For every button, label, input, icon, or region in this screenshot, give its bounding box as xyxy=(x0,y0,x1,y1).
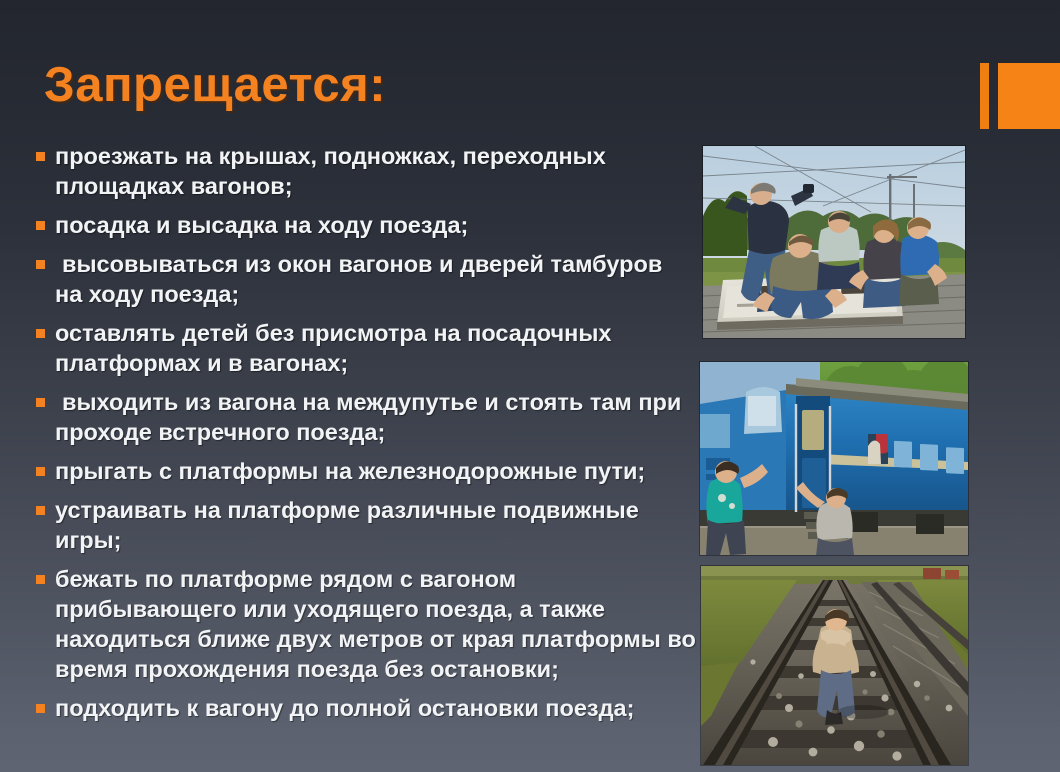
list-item-label: высовываться из окон вагонов и дверей та… xyxy=(55,249,696,309)
accent-gap xyxy=(989,63,998,129)
list-item: выходить из вагона на междупутье и стоят… xyxy=(36,387,696,447)
bullet-square-icon xyxy=(36,704,45,713)
list-item: устраивать на платформе различные подвиж… xyxy=(36,495,696,555)
list-item-label: прыгать с платформы на железнодорожные п… xyxy=(55,456,696,486)
list-item-label: выходить из вагона на междупутье и стоят… xyxy=(55,387,696,447)
orange-corner-accent xyxy=(980,63,1060,129)
list-item: прыгать с платформы на железнодорожные п… xyxy=(36,456,696,486)
photo-children-climbing-railcar xyxy=(700,362,968,555)
list-item: проезжать на крышах, подножках, переходн… xyxy=(36,141,696,201)
list-item-label: устраивать на платформе различные подвиж… xyxy=(55,495,696,555)
prohibition-list: проезжать на крышах, подножках, переходн… xyxy=(36,141,696,732)
list-item-label: подходить к вагону до полной остановки п… xyxy=(55,693,696,723)
bullet-square-icon xyxy=(36,260,45,269)
list-item: высовываться из окон вагонов и дверей та… xyxy=(36,249,696,309)
list-item-label: посадка и высадка на ходу поезда; xyxy=(55,210,696,240)
list-item: подходить к вагону до полной остановки п… xyxy=(36,693,696,723)
accent-thin-bar xyxy=(980,63,989,129)
list-item-label: бежать по платформе рядом с вагоном приб… xyxy=(55,564,696,684)
bullet-square-icon xyxy=(36,398,45,407)
photo-people-on-train-roof xyxy=(703,146,965,338)
list-item: бежать по платформе рядом с вагоном приб… xyxy=(36,564,696,684)
list-item: посадка и высадка на ходу поезда; xyxy=(36,210,696,240)
accent-block xyxy=(998,63,1060,129)
list-item-label: оставлять детей без присмотра на посадоч… xyxy=(55,318,696,378)
bullet-square-icon xyxy=(36,329,45,338)
bullet-square-icon xyxy=(36,152,45,161)
photo-child-walking-on-tracks xyxy=(701,566,968,765)
list-item: оставлять детей без присмотра на посадоч… xyxy=(36,318,696,378)
bullet-square-icon xyxy=(36,506,45,515)
slide: Запрещается: проезжать на крышах, поднож… xyxy=(0,0,1060,772)
list-item-label: проезжать на крышах, подножках, переходн… xyxy=(55,141,696,201)
page-title: Запрещается: xyxy=(44,57,386,113)
bullet-square-icon xyxy=(36,575,45,584)
bullet-square-icon xyxy=(36,467,45,476)
bullet-square-icon xyxy=(36,221,45,230)
